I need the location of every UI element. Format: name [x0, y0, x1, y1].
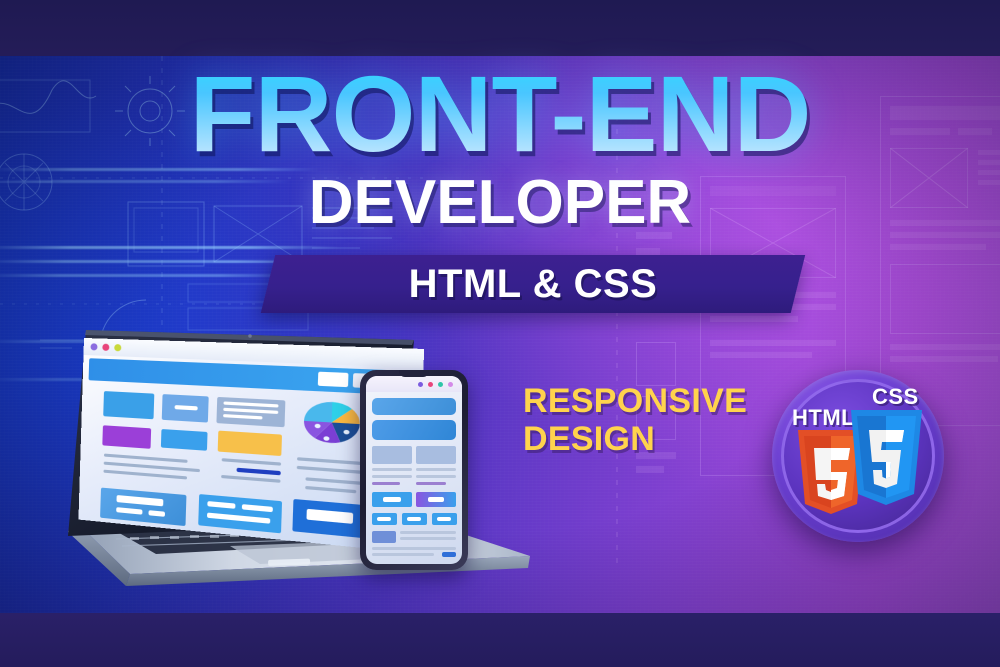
phone-text-line — [372, 547, 456, 550]
phone-text-line — [372, 482, 400, 485]
html-css-badge: HTML CSS — [772, 370, 944, 542]
dashboard-widget — [100, 488, 186, 527]
phone-text-line — [372, 468, 412, 471]
css-label: CSS — [872, 384, 919, 410]
dashboard-card — [103, 391, 154, 419]
phone-hero-bar — [372, 420, 456, 440]
navbar-button — [318, 372, 349, 388]
ribbon-label: HTML & CSS — [268, 255, 798, 313]
text-line — [221, 475, 280, 483]
phone-text-line — [400, 531, 456, 534]
phone-list-item — [372, 531, 396, 543]
phone-header-dot — [448, 382, 453, 387]
dashboard-card — [102, 425, 151, 449]
tagline-line-2: DESIGN — [523, 420, 747, 458]
phone-header-dot — [438, 382, 443, 387]
phone-card — [416, 446, 456, 464]
css3-logo-icon — [846, 408, 926, 508]
phone-text-line — [416, 468, 456, 471]
phone-header-dot — [428, 382, 433, 387]
tagline: RESPONSIVE DESIGN — [523, 382, 747, 458]
phone-badge — [442, 552, 456, 557]
page-title: FRONT-END — [0, 62, 1000, 166]
headline-group: FRONT-END DEVELOPER — [0, 62, 1000, 234]
text-line — [305, 486, 356, 493]
dashboard-card — [218, 431, 282, 456]
phone-chip-label — [377, 517, 391, 521]
phone-text-line — [400, 537, 456, 540]
phone-chip-label — [437, 517, 451, 521]
top-border-band — [0, 0, 1000, 56]
page-subtitle: DEVELOPER — [0, 172, 1000, 234]
phone-text-line — [372, 475, 412, 478]
phone-text-line — [416, 482, 446, 485]
phone-card — [372, 446, 412, 464]
text-line — [103, 470, 187, 480]
phone-chip-label — [407, 517, 421, 521]
dashboard-card — [161, 429, 208, 451]
tagline-line-1: RESPONSIVE — [523, 382, 747, 420]
phone-text-line — [372, 553, 434, 556]
phone-mockup — [360, 370, 468, 570]
phone-button-label — [428, 497, 444, 502]
phone-button-label — [383, 497, 401, 502]
phone-notch — [399, 370, 429, 377]
poster-canvas: FRONT-END DEVELOPER HTML & CSS RESPONSIV… — [0, 0, 1000, 667]
phone-screen — [366, 376, 462, 564]
bottom-border-band — [0, 613, 1000, 667]
phone-hero-bar — [372, 398, 456, 415]
phone-header-dot — [418, 382, 423, 387]
text-line — [222, 458, 281, 466]
text-line — [104, 454, 188, 463]
text-line-highlight — [236, 468, 280, 476]
phone-text-line — [416, 475, 456, 478]
